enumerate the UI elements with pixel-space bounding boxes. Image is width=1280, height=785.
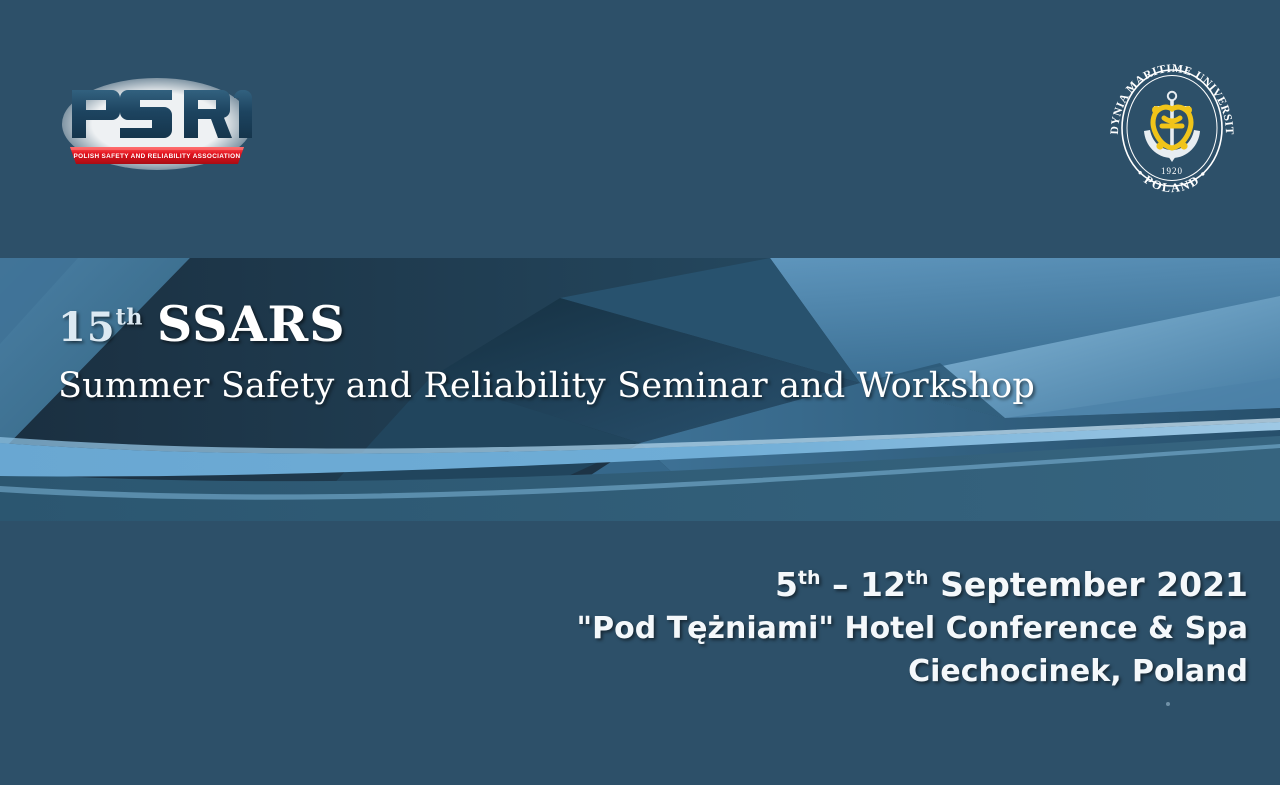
seal-founded-year: 1920 bbox=[1161, 166, 1183, 176]
event-date-space bbox=[849, 565, 861, 604]
event-dates: 5th – 12th September 2021 bbox=[577, 563, 1248, 607]
event-city: Ciechocinek, Poland bbox=[577, 650, 1248, 694]
psra-logo: POLISH SAFETY AND RELIABILITY ASSOCIATIO… bbox=[62, 78, 252, 170]
seal-ring-text-top: GDYNIA MARITIME UNIVERSITY bbox=[1098, 52, 1235, 135]
event-start-day: 5 bbox=[775, 565, 798, 604]
event-details-block: 5th – 12th September 2021 "Pod Tężniami"… bbox=[577, 563, 1248, 694]
event-date-dash: – bbox=[832, 565, 849, 604]
event-date-separator bbox=[821, 565, 833, 604]
seal-anchor-emblem bbox=[1144, 92, 1200, 162]
gdynia-maritime-university-seal: GDYNIA MARITIME UNIVERSITY • POLAND • bbox=[1098, 52, 1246, 200]
event-venue: "Pod Tężniami" Hotel Conference & Spa bbox=[577, 607, 1248, 651]
event-end-day-suffix: th bbox=[906, 567, 929, 589]
psra-tagline-text: POLISH SAFETY AND RELIABILITY ASSOCIATIO… bbox=[74, 153, 241, 160]
decorative-banner-band bbox=[0, 258, 1280, 521]
conference-title-slide: POLISH SAFETY AND RELIABILITY ASSOCIATIO… bbox=[0, 0, 1280, 785]
stray-artifact-dot bbox=[1166, 702, 1170, 706]
event-start-day-suffix: th bbox=[798, 567, 821, 589]
event-month-year: September 2021 bbox=[940, 565, 1248, 604]
event-month-space bbox=[929, 565, 941, 604]
event-end-day: 12 bbox=[860, 565, 906, 604]
